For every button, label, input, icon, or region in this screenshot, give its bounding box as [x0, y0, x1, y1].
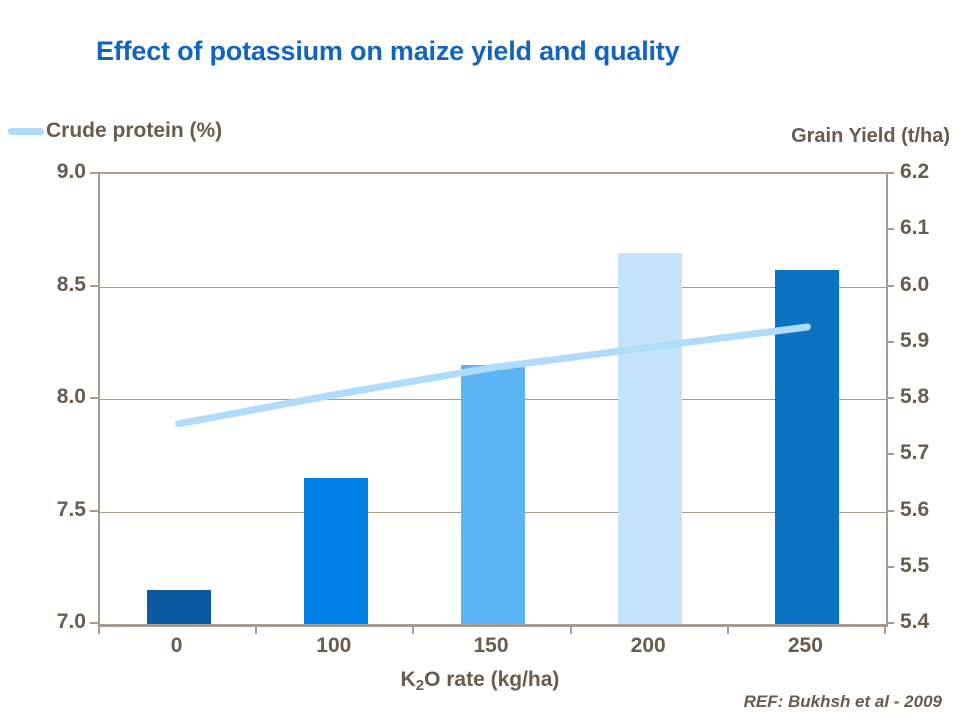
right-axis-tickmark	[886, 566, 894, 568]
x-axis-tickmark	[98, 624, 100, 634]
x-axis-tick-label-0: 0	[171, 634, 183, 658]
left-axis-tick-label: 9.0	[57, 160, 86, 184]
x-axis-title-suffix: O rate (kg/ha)	[424, 668, 559, 691]
right-axis-tick-label: 5.5	[900, 554, 929, 578]
right-axis-tickmark	[886, 453, 894, 455]
bar-200	[618, 253, 682, 624]
left-axis-tickmark	[90, 285, 98, 287]
right-axis-tick-label: 6.0	[900, 273, 929, 297]
right-axis-tickmark	[886, 397, 894, 399]
x-axis-tick-label-200: 200	[631, 634, 666, 658]
left-axis-tick-label: 7.0	[57, 610, 86, 634]
right-axis-tick-label: 5.9	[900, 329, 929, 353]
right-axis-tickmark	[886, 341, 894, 343]
x-axis-tick-label-150: 150	[473, 634, 508, 658]
x-axis-title-prefix: K	[401, 668, 416, 691]
bar-150	[461, 365, 525, 624]
right-axis-tickmark	[886, 622, 894, 624]
x-axis-title-subscript: 2	[416, 677, 424, 694]
right-axis-tick-label: 5.7	[900, 441, 929, 465]
right-axis-tick-label: 6.2	[900, 160, 929, 184]
bar-250	[775, 270, 839, 624]
left-axis-tickmark	[90, 172, 98, 174]
x-axis-tickmark	[412, 624, 414, 634]
chart-title: Effect of potassium on maize yield and q…	[96, 36, 916, 67]
left-axis-tick-label: 7.5	[57, 498, 86, 522]
chart-container: Effect of potassium on maize yield and q…	[0, 0, 960, 720]
reference-note: REF: Bukhsh et al - 2009	[744, 692, 942, 712]
right-axis-tick-label: 5.8	[900, 385, 929, 409]
legend-label-crude-protein: Crude protein (%)	[46, 119, 222, 143]
right-axis-ticks: 6.26.16.05.95.85.75.65.55.4	[900, 172, 960, 622]
secondary-axis-title: Grain Yield (t/ha)	[791, 125, 950, 148]
left-axis-tick-label: 8.0	[57, 385, 86, 409]
chart-legend: Crude protein (%)	[8, 119, 222, 143]
plot-area	[98, 172, 888, 627]
x-axis-tick-label-250: 250	[788, 634, 823, 658]
right-axis-tick-label: 5.6	[900, 498, 929, 522]
x-axis-tickmark	[255, 624, 257, 634]
gridline	[100, 287, 886, 288]
right-axis-tick-label: 6.1	[900, 216, 929, 240]
legend-line-marker-crude-protein	[8, 128, 44, 135]
left-axis-tickmark	[90, 397, 98, 399]
left-axis-ticks: 9.08.58.07.57.0	[30, 172, 86, 622]
right-axis-tickmark	[886, 228, 894, 230]
left-axis-tick-label: 8.5	[57, 273, 86, 297]
x-axis-tickmark	[727, 624, 729, 634]
bar-0	[147, 590, 211, 624]
x-axis-tickmark	[570, 624, 572, 634]
x-axis-title: K2O rate (kg/ha)	[0, 668, 960, 692]
right-axis-tickmark	[886, 510, 894, 512]
right-axis-tick-label: 5.4	[900, 610, 929, 634]
bar-100	[304, 478, 368, 624]
right-axis-tickmark	[886, 285, 894, 287]
x-axis-tickmark	[884, 624, 886, 634]
right-axis-tickmark	[886, 172, 894, 174]
left-axis-tickmark	[90, 622, 98, 624]
left-axis-tickmark	[90, 510, 98, 512]
x-axis-tick-label-100: 100	[316, 634, 351, 658]
